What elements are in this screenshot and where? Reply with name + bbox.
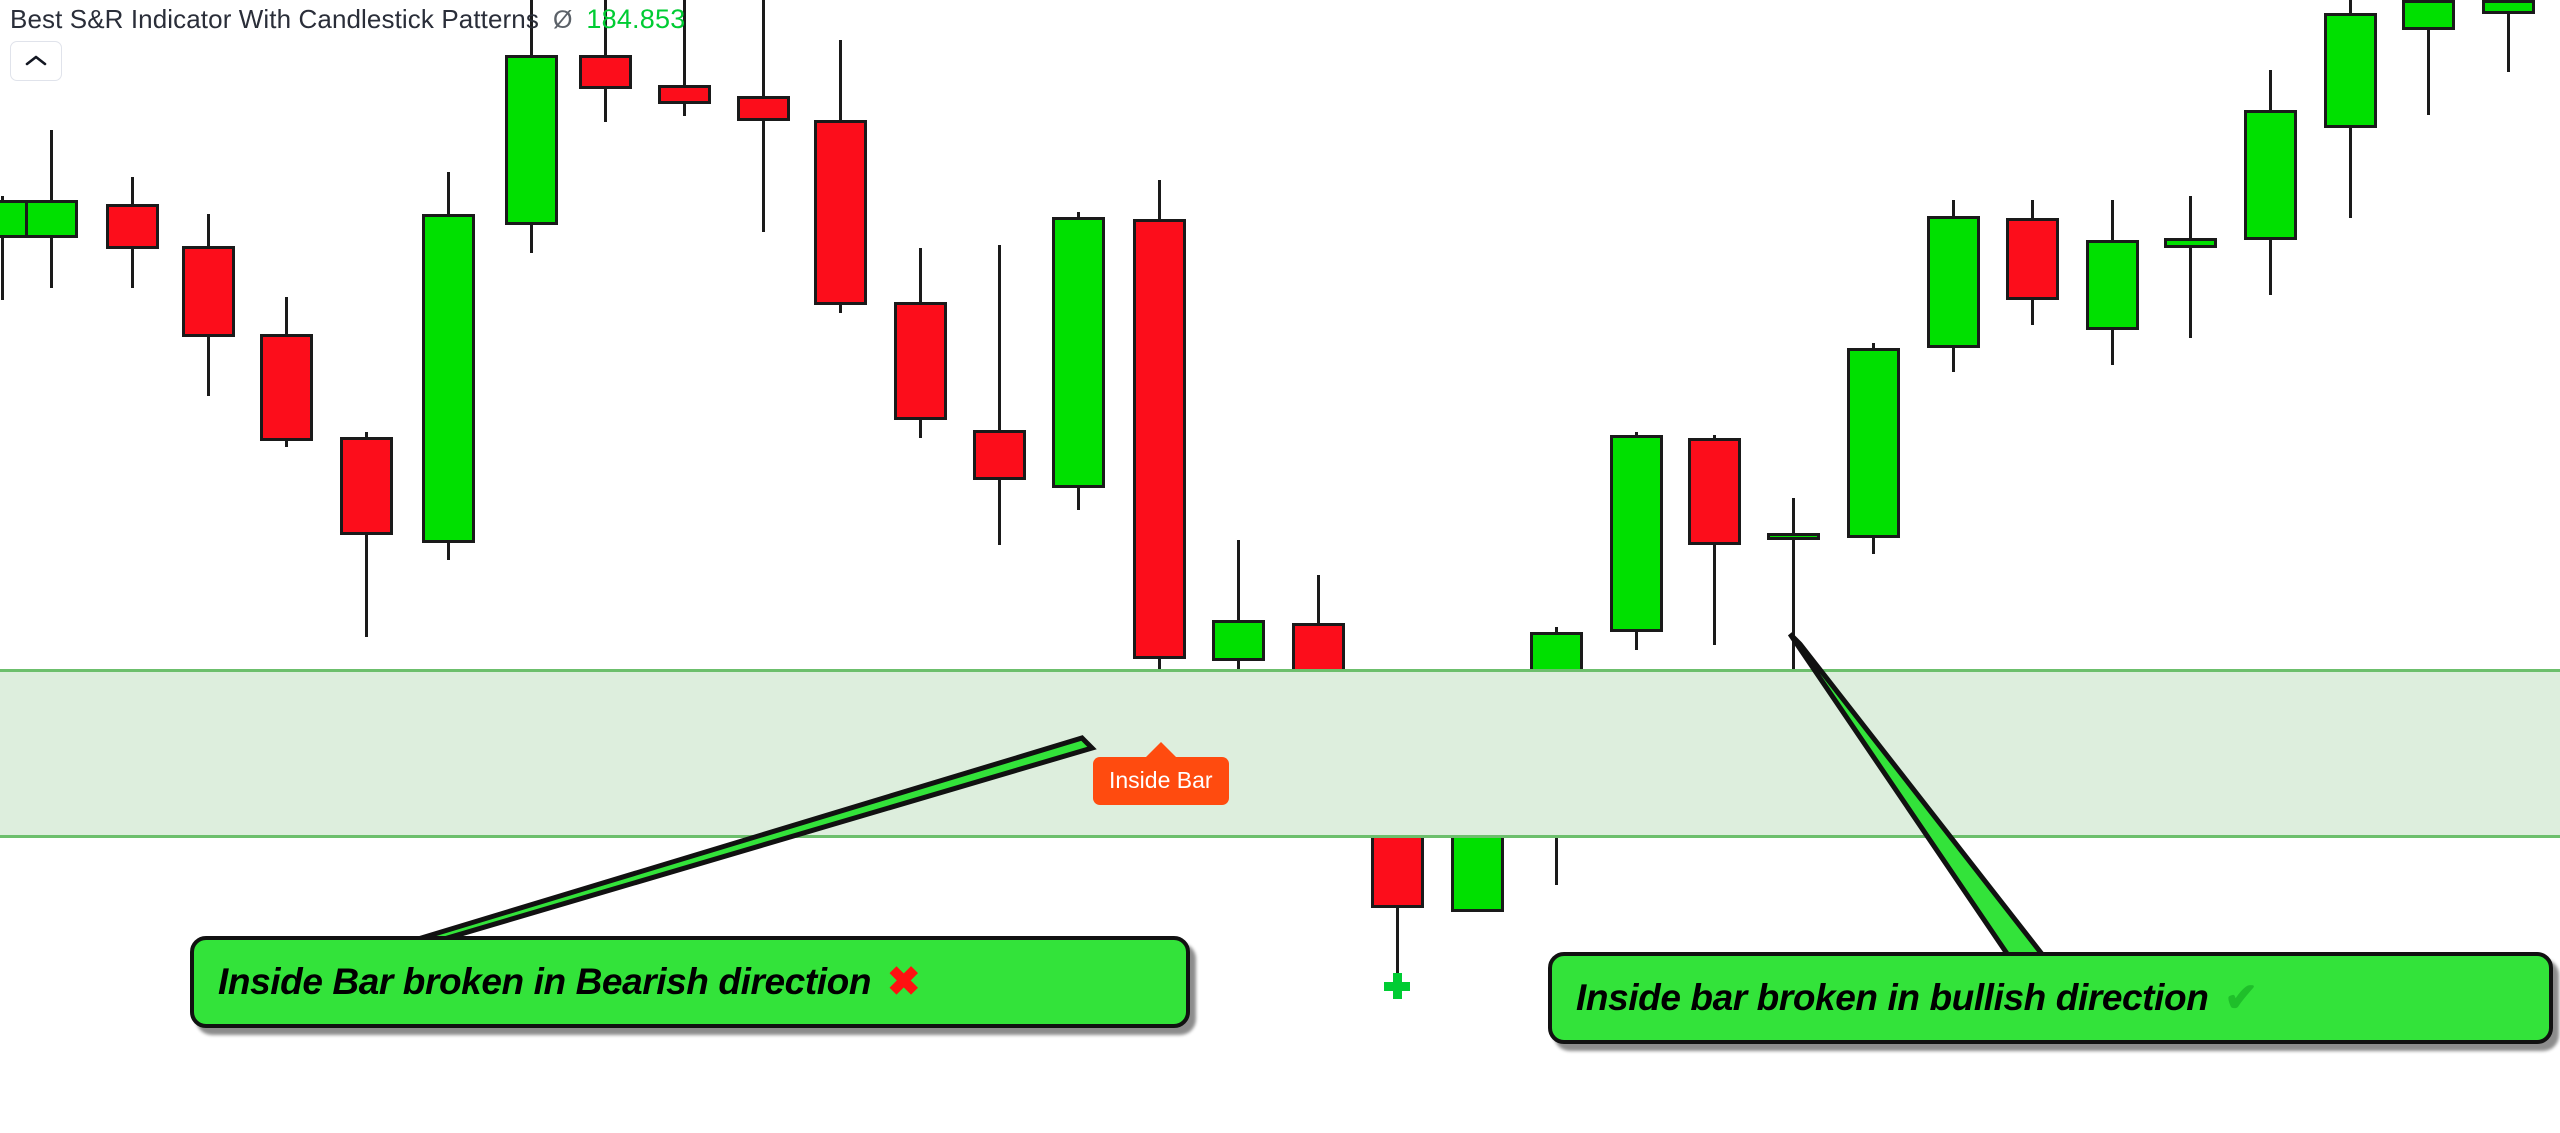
annotation-text: Inside bar broken in bullish direction xyxy=(1576,977,2208,1019)
badge-pointer-icon xyxy=(1145,742,1177,758)
support-resistance-zone xyxy=(0,669,2560,838)
chevron-up-icon xyxy=(25,54,47,68)
inside-bar-badge-label: Inside Bar xyxy=(1109,767,1213,793)
indicator-header: Best S&R Indicator With Candlestick Patt… xyxy=(10,4,685,35)
average-glyph-icon: Ø xyxy=(553,6,572,35)
annotation-callout: Inside bar broken in bullish direction✔ xyxy=(1548,952,2553,1044)
check-mark-icon: ✔ xyxy=(2224,978,2258,1018)
page-title: Best S&R Indicator With Candlestick Patt… xyxy=(10,4,539,35)
collapse-pane-button[interactable] xyxy=(10,41,62,81)
plus-marker-icon xyxy=(1384,973,1410,999)
chart-canvas: Best S&R Indicator With Candlestick Patt… xyxy=(0,0,2560,1133)
annotation-text: Inside Bar broken in Bearish direction xyxy=(218,961,871,1003)
cross-mark-icon: ✖ xyxy=(887,962,921,1002)
inside-bar-badge[interactable]: Inside Bar xyxy=(1093,757,1229,805)
annotation-callout: Inside Bar broken in Bearish direction✖ xyxy=(190,936,1190,1028)
indicator-value: 184.853 xyxy=(586,4,685,35)
